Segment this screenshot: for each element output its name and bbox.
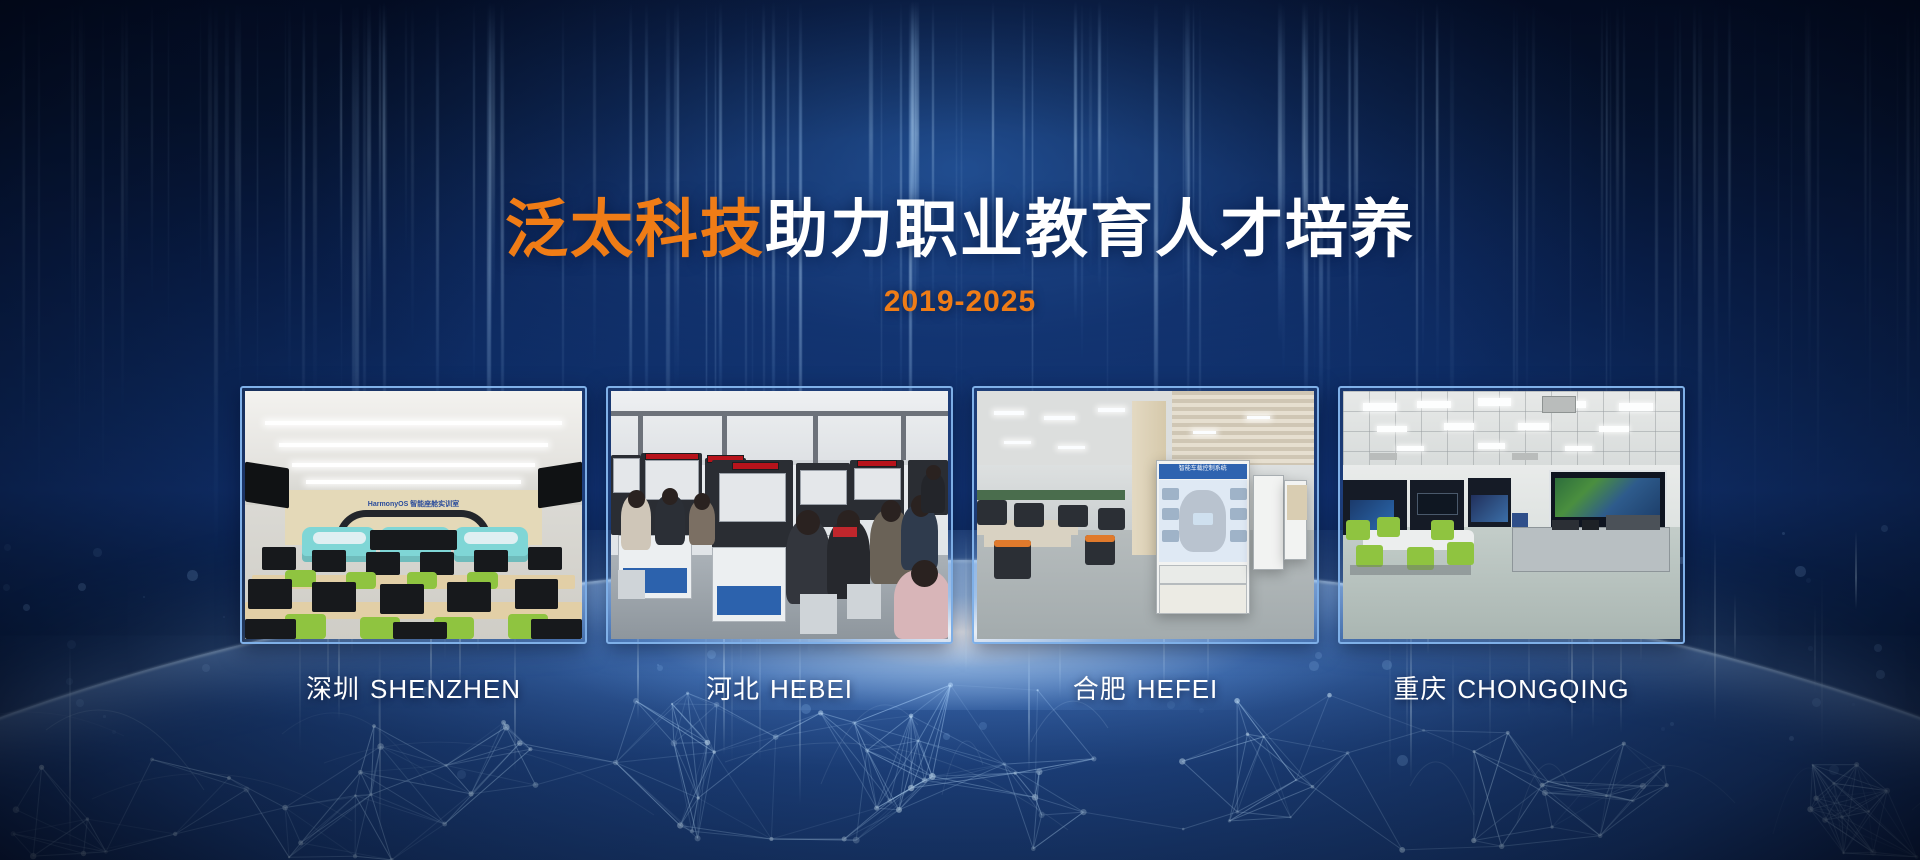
photo-gallery: HarmonyOS 智能座舱实训室 (240, 386, 1672, 706)
photo-frame (1338, 386, 1685, 644)
photo-sign-text: HarmonyOS 智能座舱实训室 (333, 498, 495, 511)
gallery-item-hefei[interactable]: 智能车载控制系统 合肥HEFEI (972, 386, 1319, 706)
caption-en: CHONGQING (1457, 674, 1629, 704)
caption-en: HEFEI (1137, 674, 1219, 704)
photo-sign-text: 智能车载控制系统 (1159, 464, 1247, 479)
caption-cn: 重庆 (1393, 674, 1447, 704)
gallery-caption-hefei: 合肥HEFEI (972, 669, 1319, 706)
title-subtitle: 2019-2025 (0, 285, 1920, 319)
gallery-caption-hebei: 河北HEBEI (606, 669, 953, 706)
gallery-caption-shenzhen: 深圳SHENZHEN (240, 669, 587, 706)
gallery-item-hebei[interactable]: 河北HEBEI (606, 386, 953, 706)
caption-cn: 合肥 (1073, 674, 1127, 704)
title-rest: 助力职业教育人才培养 (765, 195, 1415, 265)
caption-cn: 河北 (706, 674, 760, 704)
photo-shenzhen-classroom: HarmonyOS 智能座舱实训室 (245, 391, 582, 639)
gallery-caption-chongqing: 重庆CHONGQING (1338, 669, 1685, 706)
banner-stage: 泛太科技助力职业教育人才培养 2019-2025 HarmonyOS 智能座舱实… (0, 0, 1920, 860)
photo-hebei-training-lab (611, 391, 948, 639)
gallery-item-chongqing[interactable]: 重庆CHONGQING (1338, 386, 1685, 706)
photo-hefei-vehicle-lab: 智能车载控制系统 (977, 391, 1314, 639)
caption-en: HEBEI (770, 674, 853, 704)
title-block: 泛太科技助力职业教育人才培养 2019-2025 (0, 196, 1920, 319)
gallery-item-shenzhen[interactable]: HarmonyOS 智能座舱实训室 (240, 386, 587, 706)
caption-en: SHENZHEN (370, 674, 521, 704)
title-brand: 泛太科技 (505, 195, 765, 265)
page-title: 泛太科技助力职业教育人才培养 (0, 196, 1920, 265)
photo-frame: HarmonyOS 智能座舱实训室 (240, 386, 587, 644)
photo-chongqing-smart-lab (1343, 391, 1680, 639)
photo-frame: 智能车载控制系统 (972, 386, 1319, 644)
caption-cn: 深圳 (306, 674, 360, 704)
photo-frame (606, 386, 953, 644)
